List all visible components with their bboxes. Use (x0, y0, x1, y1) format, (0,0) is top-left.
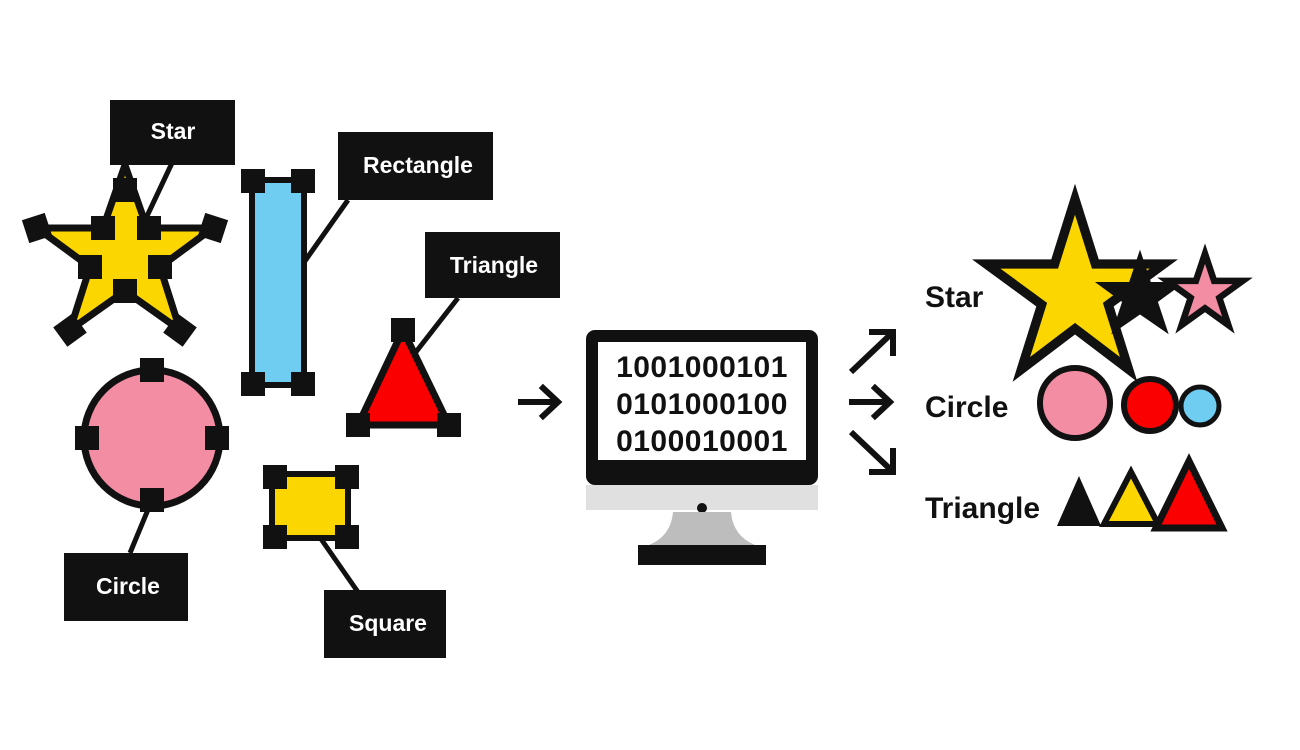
input-shape-star[interactable] (22, 165, 228, 347)
handle[interactable] (263, 525, 287, 549)
label-box-star[interactable]: Star (110, 100, 235, 165)
arrow-input-to-computer (518, 388, 558, 416)
output-circle-red (1124, 379, 1176, 431)
handle[interactable] (140, 488, 164, 512)
handle[interactable] (291, 372, 315, 396)
computer-monitor: 1001000101 0101000100 0100010001 (586, 330, 818, 565)
handle[interactable] (137, 216, 161, 240)
monitor-neck (649, 512, 755, 545)
monitor-base (638, 545, 766, 565)
screen-binary-line-2: 0101000100 (616, 388, 788, 421)
handle[interactable] (148, 255, 172, 279)
handle[interactable] (113, 279, 137, 303)
arrow-shaft (851, 334, 891, 372)
output-triangle-red (1156, 461, 1222, 528)
label-box-rectangle[interactable]: Rectangle (338, 132, 493, 200)
label-box-triangle[interactable]: Triangle (425, 232, 560, 298)
handle[interactable] (335, 525, 359, 549)
diagram-svg: Star Rectangle Triangle Circle Square (0, 0, 1300, 750)
output-star-pink (1167, 254, 1242, 325)
arrow-output-up (851, 332, 893, 372)
handle[interactable] (91, 216, 115, 240)
label-box-star-text: Star (151, 118, 196, 144)
handle[interactable] (78, 255, 102, 279)
handle[interactable] (291, 169, 315, 193)
output-row-star-label: Star (925, 281, 984, 314)
label-box-rectangle-text: Rectangle (363, 152, 473, 178)
input-shape-triangle[interactable] (346, 318, 461, 437)
output-row-triangle-label: Triangle (925, 492, 1040, 525)
handle[interactable] (391, 318, 415, 342)
handle[interactable] (263, 465, 287, 489)
handle[interactable] (75, 426, 99, 450)
handle[interactable] (437, 413, 461, 437)
arrow-output-down (851, 432, 893, 472)
rectangle-body[interactable] (252, 180, 304, 385)
handle[interactable] (241, 169, 265, 193)
triangle-body[interactable] (358, 330, 449, 425)
screen-binary-line-3: 0100010001 (616, 425, 788, 458)
monitor-power-led-icon (697, 503, 707, 513)
output-row-star: Star (925, 199, 1243, 369)
label-box-triangle-text: Triangle (450, 252, 538, 278)
leader-line-rectangle (300, 200, 348, 268)
handle[interactable] (335, 465, 359, 489)
input-shape-circle[interactable] (75, 358, 229, 512)
output-row-triangle: Triangle (925, 461, 1222, 528)
output-circle-pink (1040, 368, 1110, 438)
handle[interactable] (140, 358, 164, 382)
handle[interactable] (346, 413, 370, 437)
circle-body[interactable] (84, 370, 220, 506)
label-box-circle[interactable]: Circle (64, 553, 188, 621)
label-box-square-text: Square (349, 610, 427, 636)
label-box-square[interactable]: Square (324, 590, 446, 658)
handle[interactable] (205, 426, 229, 450)
screen-binary-line-1: 1001000101 (616, 351, 788, 384)
output-row-circle: Circle (925, 368, 1219, 438)
diagram-canvas: Star Rectangle Triangle Circle Square (0, 0, 1300, 750)
handle[interactable] (241, 372, 265, 396)
input-shape-square[interactable] (263, 465, 359, 549)
arrow-output-right (849, 388, 890, 416)
arrow-shaft (851, 432, 891, 470)
output-circle-blue (1181, 387, 1219, 425)
input-shape-rectangle[interactable] (241, 169, 315, 396)
output-row-circle-label: Circle (925, 391, 1008, 424)
output-triangle-black (1060, 481, 1098, 524)
output-triangle-yellow (1104, 472, 1158, 524)
handle[interactable] (113, 178, 137, 202)
label-box-circle-text: Circle (96, 573, 160, 599)
